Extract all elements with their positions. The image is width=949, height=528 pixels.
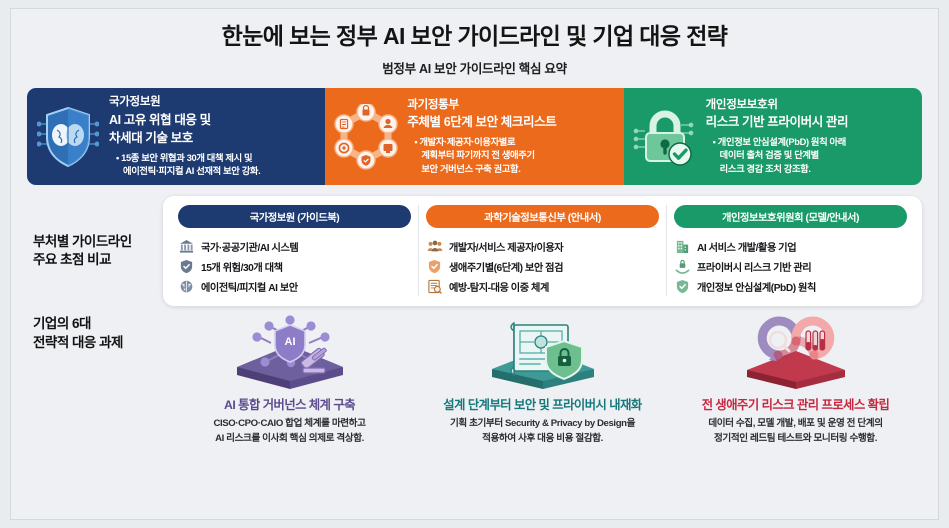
bullet-line: • 개발자·제공자·이용자별로 xyxy=(414,136,615,149)
people-group-icon xyxy=(426,239,443,254)
task-description: 데이터 수집, 모델 개발, 배포 및 운영 전 단계의 정기적인 레드팀 테스… xyxy=(708,417,882,446)
page-title: 한눈에 보는 정부 AI 보안 가이드라인 및 기업 대응 전략 xyxy=(27,23,922,49)
ministry-card-msit[interactable]: 과기정통부 주체별 6단계 보안 체크리스트 • 개발자·제공자·이용자별로 계… xyxy=(325,88,623,185)
infographic-canvas: 한눈에 보는 정부 AI 보안 가이드라인 및 기업 대응 전략 범정부 AI … xyxy=(10,8,939,520)
comparison-item: 개인정보 안심설계(PbD) 원칙 xyxy=(674,276,907,296)
bullet-line: • 15종 보안 위협과 30개 대책 제시 및 xyxy=(116,152,317,165)
hand-lock-icon xyxy=(674,259,691,274)
ministry-card-nis[interactable]: 국가정보원 AI 고유 위협 대응 및 차세대 기술 보호 • 15종 보안 위… xyxy=(27,88,325,185)
comparison-item-label: 국가·공공기관/AI 시스템 xyxy=(201,239,298,254)
page-subtitle: 범정부 AI 보안 가이드라인 핵심 요약 xyxy=(27,58,922,77)
brain-network-icon xyxy=(178,279,195,294)
comparison-item: 15개 위험/30개 대책 xyxy=(178,256,411,276)
comparison-item-label: 예방-탐지-대응 이중 체계 xyxy=(449,279,549,294)
comparison-column-nis: 국가정보원 (가이드북) 국가·공공기관/AI 시스템 15개 위험/30개 대… xyxy=(171,205,418,296)
ministry-headline-line1: 주체별 6단계 보안 체크리스트 xyxy=(407,114,615,131)
task-desc-line: 데이터 수집, 모델 개발, 배포 및 운영 전 단계의 xyxy=(708,417,882,431)
bullet-line: 데이터 출처 검증 및 단계별 xyxy=(713,149,914,162)
svg-text:AI: AI xyxy=(284,336,295,348)
comparison-item-label: 프라이버시 리스크 기반 관리 xyxy=(697,259,811,274)
ministry-bullet: • 15종 보안 위협과 30개 대책 제시 및 에이전틱·피지컬 AI 선재적… xyxy=(109,152,317,179)
task-desc-line: CISO·CPO·CAIO 합업 체계를 마련하고 xyxy=(213,417,365,431)
comparison-item-label: 생애주기별(6단계) 보안 점검 xyxy=(449,259,563,274)
comparison-column-msit: 과학기술정보통신부 (안내서) 개발자/서비스 제공자/이용자 생애주기별(6단… xyxy=(418,205,666,296)
comparison-item-label: 개발자/서비스 제공자/이용자 xyxy=(449,239,563,254)
task-desc-line: AI 리스크를 이사회 핵심 의제로 격상함. xyxy=(213,432,365,446)
task-desc-line: 정기적인 레드팀 테스트와 모니터링 수행함. xyxy=(708,432,882,446)
comparison-side-label: 부처별 가이드라인 주요 초점 비교 xyxy=(27,233,159,269)
comparison-card: 국가정보원 (가이드북) 국가·공공기관/AI 시스템 15개 위험/30개 대… xyxy=(163,196,922,306)
tasks-label-line1: 기업의 6대 xyxy=(33,315,159,333)
shield-brain-icon xyxy=(33,104,103,170)
bullet-line: 보안 거버넌스 구축 권고함. xyxy=(414,163,615,176)
comparison-item: 프라이버시 리스크 기반 관리 xyxy=(674,256,907,276)
comparison-item-label: AI 서비스 개발/활용 기업 xyxy=(697,239,796,254)
tasks-side-label: 기업의 6대 전략적 대응 과제 xyxy=(27,315,159,351)
lifecycle-infinity-icon xyxy=(737,315,855,393)
bullet-line: 리스크 경감 조치 강조함. xyxy=(713,163,914,176)
ministry-org-name: 개인정보보호위 xyxy=(706,98,914,114)
tasks-section: 기업의 6대 전략적 대응 과제 xyxy=(27,315,922,509)
bullet-line: 계획부터 파기까지 전 생애주기 xyxy=(414,149,615,162)
comparison-item: 국가·공공기관/AI 시스템 xyxy=(178,236,411,256)
lifecycle-hexagon-icon xyxy=(331,104,401,170)
ministry-org-name: 국가정보원 xyxy=(109,95,317,111)
padlock-check-icon xyxy=(630,105,700,169)
shield-check-icon xyxy=(426,259,443,274)
task-desc-line: 적용하여 사후 대응 비용 절감함. xyxy=(450,432,635,446)
ministry-bullet: • 개인정보 안심설계(PbD) 원칙 아래 데이터 출처 검증 및 단계별 리… xyxy=(706,136,914,176)
task-description: 기획 초기부터 Security & Privacy by Design을 적용… xyxy=(450,417,635,446)
task-title: 설계 단계부터 보안 및 프라이버시 내재화 xyxy=(443,395,641,413)
tasks-label-line2: 전략적 대응 과제 xyxy=(33,334,159,352)
comparison-pill-msit[interactable]: 과학기술정보통신부 (안내서) xyxy=(426,205,659,228)
bullet-line: 에이전틱·피지컬 AI 선재적 보안 강화. xyxy=(116,165,317,178)
document-search-icon xyxy=(426,279,443,294)
task-card-lifecycle-risk[interactable]: 전 생애주기 리스크 관리 프로세스 확립 데이터 수집, 모델 개발, 배포 … xyxy=(669,315,922,446)
comparison-item-label: 15개 위험/30개 대책 xyxy=(201,259,283,274)
ministry-headline-line1: 리스크 기반 프라이버시 관리 xyxy=(706,114,914,131)
comparison-item-label: 개인정보 안심설계(PbD) 원칙 xyxy=(697,279,816,294)
comparison-item: 예방-탐지-대응 이중 체계 xyxy=(426,276,659,296)
ministry-headline-line2: 차세대 기술 보호 xyxy=(109,130,317,147)
comparison-item: 에이전틱/피지컬 AI 보안 xyxy=(178,276,411,296)
task-desc-line: 기획 초기부터 Security & Privacy by Design을 xyxy=(450,417,635,431)
ministry-card-pipc[interactable]: 개인정보보호위 리스크 기반 프라이버시 관리 • 개인정보 안심설계(PbD)… xyxy=(624,88,922,185)
ministry-org-name: 과기정통부 xyxy=(407,98,615,114)
comparison-pill-pipc[interactable]: 개인정보보호위원회 (모델/안내서) xyxy=(674,205,907,228)
comparison-item: 생애주기별(6단계) 보안 점검 xyxy=(426,256,659,276)
ministry-headline-line1: AI 고유 위협 대응 및 xyxy=(109,112,317,129)
comparison-item: AI 서비스 개발/활용 기업 xyxy=(674,236,907,256)
task-title: 전 생애주기 리스크 관리 프로세스 확립 xyxy=(702,395,890,413)
task-title: AI 통합 거버넌스 체계 구축 xyxy=(224,395,355,413)
task-card-governance[interactable]: AI AI 통합 거버넌스 체계 구축 CISO·CPO·CAIO 합업 체계를… xyxy=(163,315,416,446)
ministry-bullet: • 개발자·제공자·이용자별로 계획부터 파기까지 전 생애주기 보안 거버넌스… xyxy=(407,136,615,176)
comparison-label-line2: 주요 초점 비교 xyxy=(33,251,159,269)
shield-check-icon xyxy=(674,279,691,294)
comparison-column-pipc: 개인정보보호위원회 (모델/안내서) AI 서비스 개발/활용 기업 프라이버시… xyxy=(666,205,914,296)
office-building-icon xyxy=(674,239,691,254)
infographic-frame: 한눈에 보는 정부 AI 보안 가이드라인 및 기업 대응 전략 범정부 AI … xyxy=(0,0,949,528)
bullet-line: • 개인정보 안심설계(PbD) 원칙 아래 xyxy=(713,136,914,149)
comparison-pill-nis[interactable]: 국가정보원 (가이드북) xyxy=(178,205,411,228)
task-card-security-by-design[interactable]: 설계 단계부터 보안 및 프라이버시 내재화 기획 초기부터 Security … xyxy=(416,315,669,446)
bank-building-icon xyxy=(178,239,195,254)
comparison-item: 개발자/서비스 제공자/이용자 xyxy=(426,236,659,256)
comparison-section: 부처별 가이드라인 주요 초점 비교 국가정보원 (가이드북) 국가·공공기관/… xyxy=(27,196,922,306)
comparison-label-line1: 부처별 가이드라인 xyxy=(33,233,159,251)
task-description: CISO·CPO·CAIO 합업 체계를 마련하고 AI 리스크를 이사회 핵심… xyxy=(213,417,365,446)
ai-governance-platform-icon: AI xyxy=(231,315,349,393)
comparison-item-label: 에이전틱/피지컬 AI 보안 xyxy=(201,279,298,294)
secure-blueprint-icon xyxy=(484,315,602,393)
shield-check-icon xyxy=(178,259,195,274)
ministry-band: 국가정보원 AI 고유 위협 대응 및 차세대 기술 보호 • 15종 보안 위… xyxy=(27,88,922,185)
